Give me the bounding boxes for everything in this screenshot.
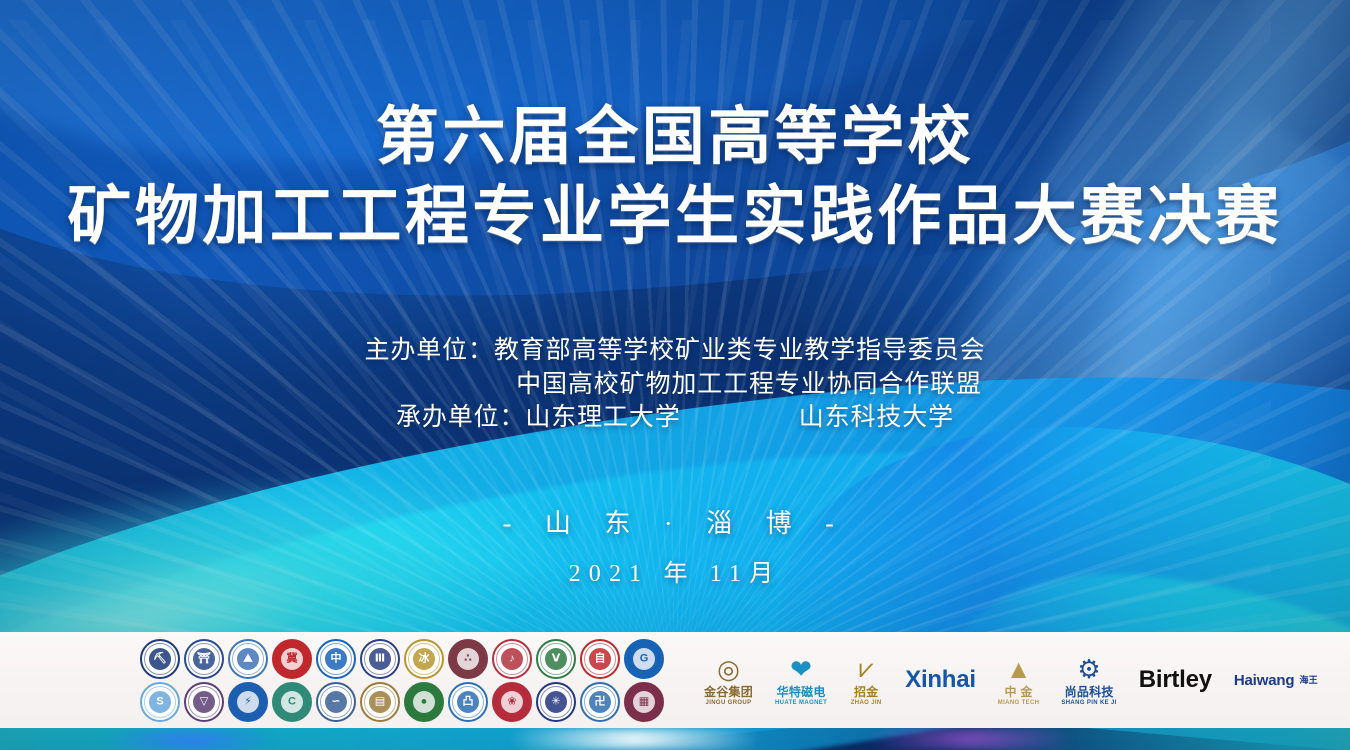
xinhai-logo-wordmark: Xinhai (905, 668, 976, 692)
university-logo-area: ⛏⛩⛰冀中Ⅲ冰∴♪Ⅴ自G S▽⚡C∽▤●凸❀✳卍▦ (140, 639, 680, 722)
shangpin-tech-logo-en-text: SHANG PIN KE JI (1061, 700, 1116, 706)
university-seal-green-globe: ● (404, 682, 444, 722)
seal-emblem-mark: ∴ (464, 653, 472, 664)
organizers-block: 主办单位：教育部高等学校矿业类专业教学指导委员会 中国高校矿物加工工程专业协同合… (0, 334, 1350, 435)
huate-magnet-logo-glyph-icon: ❤ (784, 654, 818, 684)
location-text: - 山 东 · 淄 博 - (0, 503, 1350, 540)
seal-emblem-mark: 自 (595, 653, 606, 664)
zhao-jin-logo-glyph-icon: ⩗ (849, 654, 883, 684)
university-seal-crimson-music: ♪ (492, 639, 532, 679)
zhao-jin-logo: ⩗招金ZHAO JIN (849, 654, 883, 706)
university-seal-navy-star: ✳ (536, 682, 576, 722)
seal-emblem-mark: G (640, 653, 649, 664)
university-seal-purple-shield: ▽ (184, 682, 224, 722)
university-seal-blue-bolt: ⚡ (228, 682, 268, 722)
seal-emblem-mark: Ⅴ (552, 653, 561, 664)
event-poster: 第六届全国高等学校 矿物加工工程专业学生实践作品大赛决赛 主办单位：教育部高等学… (0, 0, 1350, 750)
undertaker-line: 承办单位：山东理工大学山东科技大学 (0, 401, 1350, 435)
jingu-group-logo-en-text: JINGU GROUP (706, 700, 752, 706)
zhao-jin-logo-cn-text: 招金 (854, 686, 878, 698)
jingu-group-logo: ◎金谷集团JINGU GROUP (704, 654, 753, 706)
miang-tech-logo-en-text: MIANG TECH (998, 700, 1040, 706)
seal-emblem-mark: ∽ (331, 696, 340, 707)
seal-emblem-mark: 卍 (595, 696, 606, 707)
university-seal-red-leaf: ❀ (492, 682, 532, 722)
seal-emblem-mark: ♪ (509, 653, 515, 664)
university-seal-blue-solid: G (624, 639, 664, 679)
huate-magnet-logo: ❤华特磁电HUATE MAGNET (775, 654, 827, 706)
shangpin-tech-logo-glyph-icon: ⚙ (1072, 654, 1106, 684)
date-text: 2021 年 11月 (0, 553, 1350, 588)
university-seal-lightblue-swirl: S (140, 682, 180, 722)
jingu-group-logo-glyph-icon: ◎ (711, 654, 745, 684)
university-logo-row-1: ⛏⛩⛰冀中Ⅲ冰∴♪Ⅴ自G (140, 639, 680, 679)
bottom-band-glow (0, 728, 1350, 750)
seal-emblem-mark: Ⅲ (375, 653, 385, 664)
jingu-group-logo-cn-text: 金谷集团 (704, 686, 753, 698)
xinhai-logo: Xinhai (905, 668, 976, 692)
seal-emblem-mark: 冰 (419, 653, 430, 664)
university-seal-gate-emblem: ⛩ (184, 639, 224, 679)
sponsor-logo-strip: ⛏⛩⛰冀中Ⅲ冰∴♪Ⅴ自G S▽⚡C∽▤●凸❀✳卍▦ ◎金谷集团JINGU GRO… (0, 632, 1350, 728)
university-seal-red-square-emblem: 自 (580, 639, 620, 679)
miang-tech-logo-glyph-icon: ▲ (1002, 654, 1036, 684)
host-organizer-line-2: 中国高校矿物加工工程专业协同合作联盟 (0, 368, 1350, 402)
seal-emblem-mark: ▦ (639, 696, 649, 707)
title-line-1: 第六届全国高等学校 (0, 104, 1350, 171)
seal-emblem-mark: ❀ (507, 696, 516, 707)
university-seal-maroon-classic: ▦ (624, 682, 664, 722)
haiwang-logo: Haiwang海王 (1234, 673, 1318, 688)
huate-magnet-logo-cn-text: 华特磁电 (777, 686, 826, 698)
seal-emblem-mark: C (288, 696, 296, 707)
university-seal-mountain-wave: ⛰ (228, 639, 268, 679)
seal-emblem-mark: 中 (331, 653, 342, 664)
university-seal-blue-knot: 卍 (580, 682, 620, 722)
university-seal-gold-ring: 冰 (404, 639, 444, 679)
poster-title-block: 第六届全国高等学校 矿物加工工程专业学生实践作品大赛决赛 (0, 104, 1350, 251)
seal-emblem-mark: 凸 (463, 696, 474, 707)
seal-emblem-mark: ⛰ (243, 653, 252, 664)
university-seal-gold-hall: ▤ (360, 682, 400, 722)
university-logo-row-2: S▽⚡C∽▤●凸❀✳卍▦ (140, 682, 680, 722)
seal-emblem-mark: ✳ (551, 696, 560, 707)
seal-emblem-mark: ▤ (375, 696, 385, 707)
bottom-color-band (0, 728, 1350, 750)
university-seal-teal-leaf: C (272, 682, 312, 722)
zhao-jin-logo-en-text: ZHAO JIN (851, 700, 882, 706)
seal-emblem-mark: ⛩ (197, 653, 211, 664)
university-seal-green-red-mark: Ⅴ (536, 639, 576, 679)
location-date-block: - 山 东 · 淄 博 - 2021 年 11月 (0, 503, 1350, 588)
university-seal-maroon-dots: ∴ (448, 639, 488, 679)
haiwang-logo-wordmark: Haiwang (1234, 673, 1295, 688)
shangpin-tech-logo: ⚙尚品科技SHANG PIN KE JI (1061, 654, 1116, 706)
seal-emblem-mark: S (156, 696, 163, 707)
university-seal-navy-building: Ⅲ (360, 639, 400, 679)
huate-magnet-logo-en-text: HUATE MAGNET (775, 700, 827, 706)
miang-tech-logo-cn-text: 中 金 (1005, 686, 1033, 698)
company-logo-area: ◎金谷集团JINGU GROUP❤华特磁电HUATE MAGNET⩗招金ZHAO… (680, 654, 1350, 706)
seal-emblem-mark: ● (421, 696, 428, 707)
seal-emblem-mark: ⛏ (153, 653, 167, 664)
university-seal-blue-monogram: 中 (316, 639, 356, 679)
undertaker-university-2: 山东科技大学 (799, 403, 954, 431)
undertaker-university-1: 山东理工大学 (525, 403, 680, 431)
seal-emblem-mark: ⚡ (244, 696, 252, 707)
haiwang-logo-cn-text: 海王 (1299, 676, 1317, 685)
birtley-logo-wordmark: Birtley (1139, 668, 1212, 692)
university-seal-red-round: 冀 (272, 639, 312, 679)
undertaker-label: 承办单位： (396, 403, 525, 431)
title-line-2: 矿物加工工程专业学生实践作品大赛决赛 (0, 183, 1350, 251)
host-organizer-line-1: 主办单位：教育部高等学校矿业类专业教学指导委员会 (0, 334, 1350, 368)
china-university-of-mining-and-technology-seal: ⛏ (140, 639, 180, 679)
seal-emblem-mark: 冀 (287, 653, 298, 664)
shangpin-tech-logo-cn-text: 尚品科技 (1065, 686, 1114, 698)
university-seal-blue-tower: 凸 (448, 682, 488, 722)
seal-emblem-mark: ▽ (200, 696, 208, 707)
birtley-logo: Birtley (1139, 668, 1212, 692)
miang-tech-logo: ▲中 金MIANG TECH (998, 654, 1040, 706)
university-seal-steel-swirl: ∽ (316, 682, 356, 722)
